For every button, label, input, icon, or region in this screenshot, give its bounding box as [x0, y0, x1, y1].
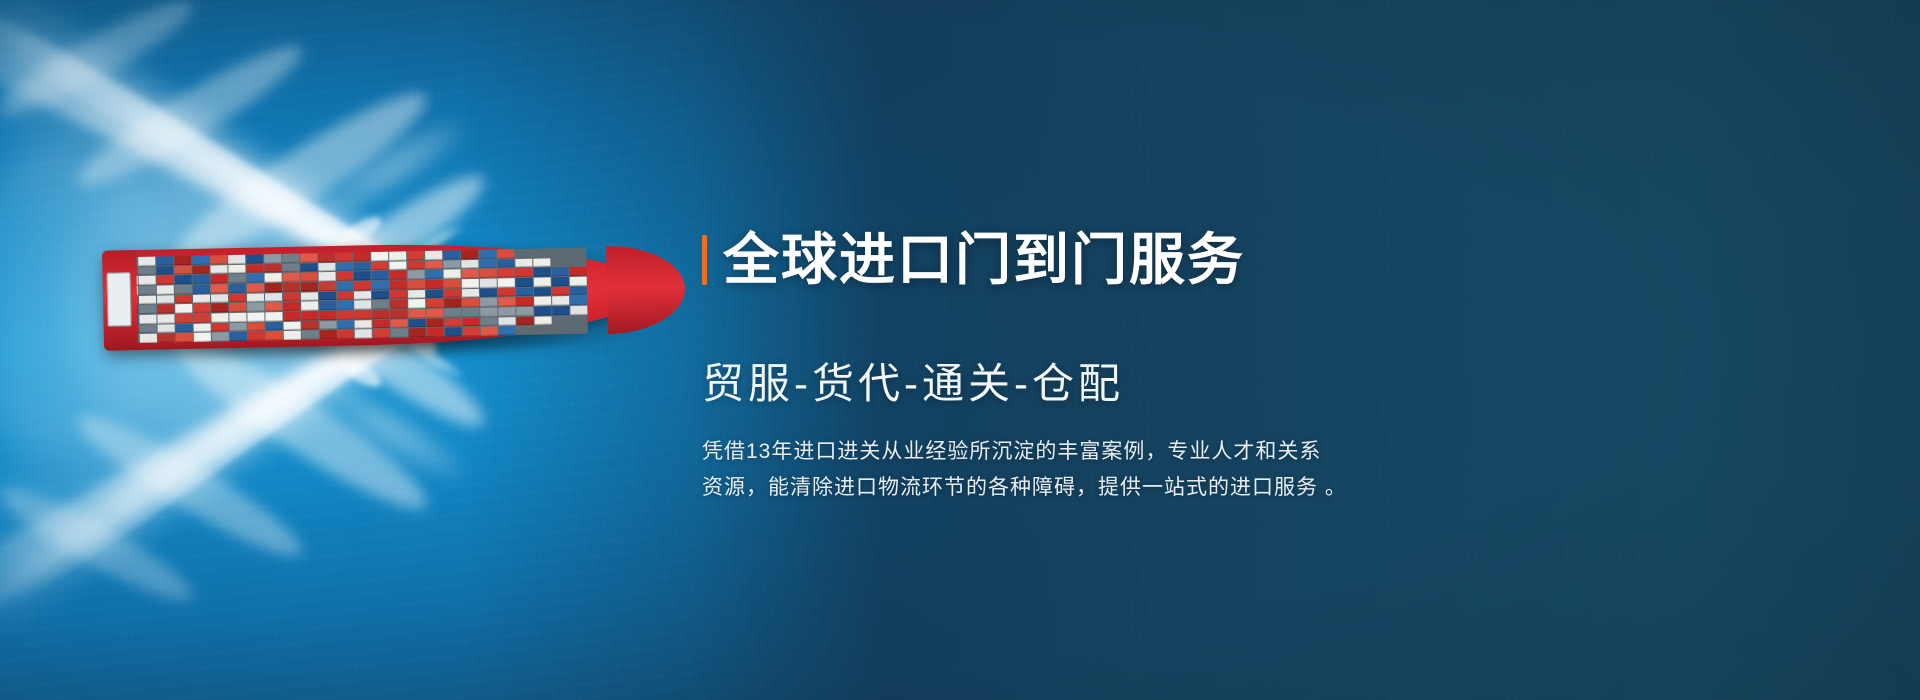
headline-row: 全球进口门到门服务	[702, 194, 1462, 325]
page-title: 全球进口门到门服务	[723, 232, 1245, 288]
hero-banner: 全球进口门到门服务 贸服-货代-通关-仓配 凭借13年进口进关从业经验所沉淀的丰…	[0, 0, 1920, 700]
hero-content: 全球进口门到门服务 贸服-货代-通关-仓配 凭借13年进口进关从业经验所沉淀的丰…	[702, 0, 1462, 700]
description-line-2: 资源，能清除进口物流环节的各种障碍，提供一站式的进口服务 。	[702, 470, 1402, 506]
description-line-1: 凭借13年进口进关从业经验所沉淀的丰富案例，专业人才和关系	[702, 434, 1402, 470]
subtitle: 贸服-货代-通关-仓配	[702, 361, 1462, 407]
description: 凭借13年进口进关从业经验所沉淀的丰富案例，专业人才和关系 资源，能清除进口物流…	[702, 434, 1402, 506]
orange-accent-bar	[702, 235, 707, 285]
